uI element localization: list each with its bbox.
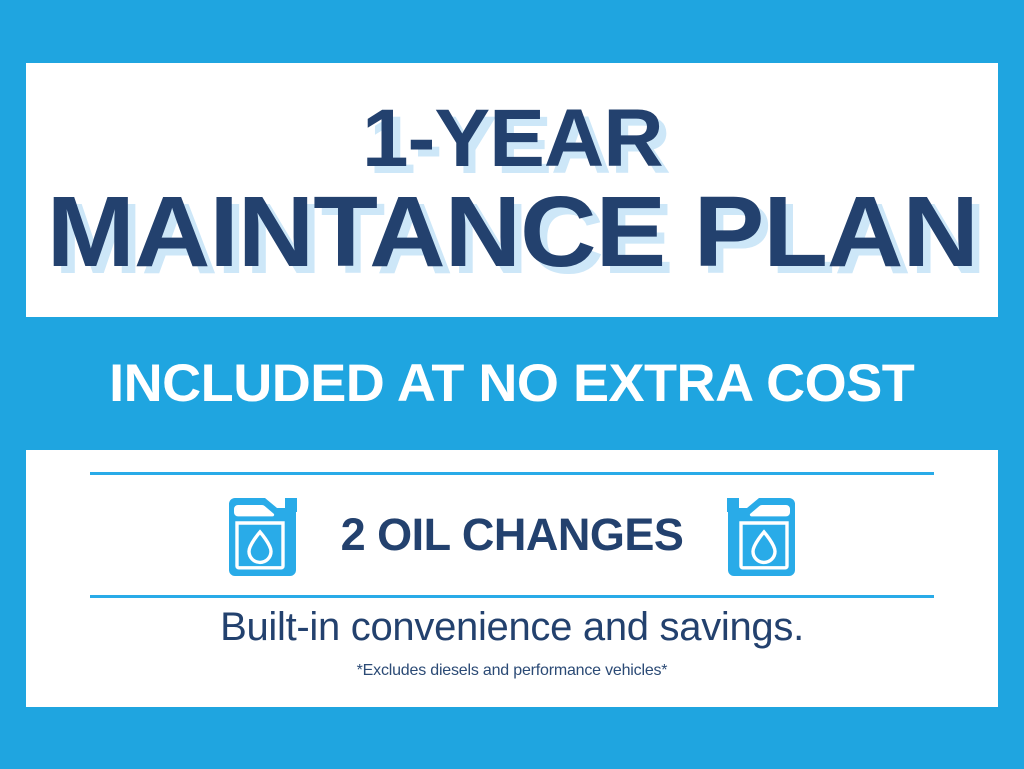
divider-top	[90, 472, 934, 475]
subtitle-band: INCLUDED AT NO EXTRA COST	[0, 317, 1024, 450]
headline-line-primary: 1-YEAR	[362, 100, 663, 179]
details-panel: 2 OIL CHANGES Built-in convenience and s…	[26, 450, 998, 707]
tagline-text: Built-in convenience and savings.	[26, 605, 998, 650]
oil-jug-icon	[727, 492, 801, 578]
benefit-row: 2 OIL CHANGES	[26, 480, 998, 590]
divider-bottom	[90, 595, 934, 598]
subtitle-text: INCLUDED AT NO EXTRA COST	[109, 353, 914, 414]
headline-line-secondary: MAINTANCE PLAN	[46, 184, 977, 280]
promo-card: 1-YEAR MAINTANCE PLAN INCLUDED AT NO EXT…	[0, 0, 1024, 769]
disclaimer-text: *Excludes diesels and performance vehicl…	[26, 662, 998, 680]
benefit-label: 2 OIL CHANGES	[341, 509, 684, 561]
headline-panel: 1-YEAR MAINTANCE PLAN	[26, 63, 998, 317]
oil-jug-icon	[223, 492, 297, 578]
